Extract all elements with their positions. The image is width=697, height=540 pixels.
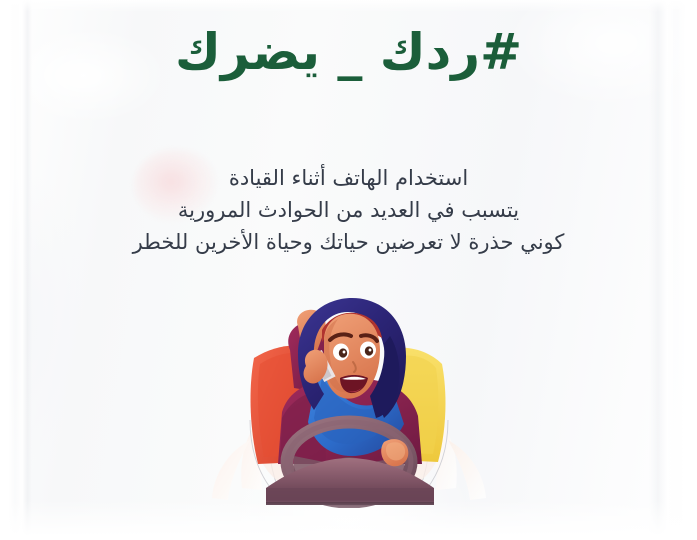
page-title: #ردك _ يضرك [0,24,697,82]
body-text-container: استخدام الهاتف أثناء القيادة يتسبب في ال… [0,164,697,257]
headline-container: #ردك _ يضرك [0,24,697,82]
body-line-2: يتسبب في العديد من الحوادث المرورية [0,196,697,226]
body-line-1: استخدام الهاتف أثناء القيادة [0,164,697,194]
edge-fade-left [0,0,16,540]
edge-fade-right [677,0,697,540]
awareness-poster: #ردك _ يضرك استخدام الهاتف أثناء القيادة… [0,0,697,540]
edge-fade-bottom [0,500,697,540]
edge-fade-top [0,0,697,12]
illustration-woman-driving-using-phone [198,292,500,508]
body-line-3: كوني حذرة لا تعرضين حياتك وحياة الأخرين … [0,228,697,258]
